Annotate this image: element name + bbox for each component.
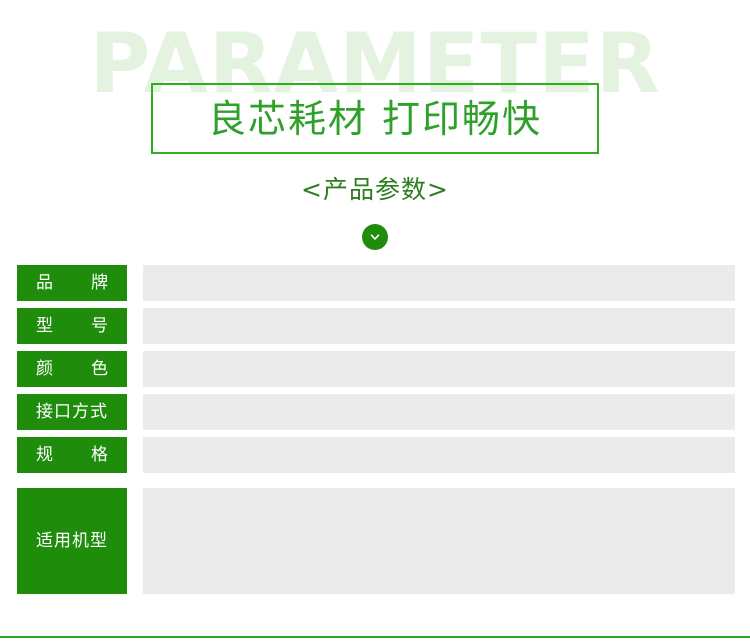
table-row: 适用机型	[0, 488, 750, 594]
spec-label-char: 品	[36, 275, 53, 292]
spec-label-text: 接口方式	[36, 404, 108, 421]
table-row: 规格	[0, 437, 750, 473]
spec-label-text: 适用机型	[36, 533, 108, 550]
spec-label-text: 型号	[36, 318, 108, 335]
spec-label-cell: 适用机型	[17, 488, 127, 594]
spec-label-char: 规	[36, 447, 53, 464]
spec-label-char: 色	[91, 361, 108, 378]
page-title: 良芯耗材 打印畅快	[208, 100, 542, 138]
table-row: 品牌	[0, 265, 750, 301]
spec-label-cell: 品牌	[17, 265, 127, 301]
spec-label-text: 规格	[36, 447, 108, 464]
section-subtitle: <产品参数>	[0, 175, 750, 205]
spec-label-char: 型	[36, 318, 53, 335]
spec-label-char: 格	[91, 447, 108, 464]
table-row: 型号	[0, 308, 750, 344]
spec-table: 品牌型号颜色接口方式规格适用机型	[0, 265, 750, 601]
spec-label-cell: 规格	[17, 437, 127, 473]
spec-label-char: 颜	[36, 361, 53, 378]
spec-value-cell[interactable]	[143, 265, 735, 301]
spec-label-text: 颜色	[36, 361, 108, 378]
spec-label-char: 牌	[91, 275, 108, 292]
spec-label-cell: 颜色	[17, 351, 127, 387]
spec-label-cell: 接口方式	[17, 394, 127, 430]
spec-value-cell[interactable]	[143, 351, 735, 387]
chevron-down-icon	[362, 224, 388, 250]
spec-label-text: 品牌	[36, 275, 108, 292]
spec-label-char: 号	[91, 318, 108, 335]
spec-label-cell: 型号	[17, 308, 127, 344]
hero-header: PARAMETER 良芯耗材 打印畅快 <产品参数>	[0, 0, 750, 258]
table-row: 颜色	[0, 351, 750, 387]
spec-value-cell[interactable]	[143, 394, 735, 430]
table-row: 接口方式	[0, 394, 750, 430]
spec-value-cell[interactable]	[143, 488, 735, 594]
spec-value-cell[interactable]	[143, 308, 735, 344]
footer-divider	[0, 636, 750, 638]
title-box: 良芯耗材 打印畅快	[151, 83, 599, 154]
spec-value-cell[interactable]	[143, 437, 735, 473]
parameter-page: PARAMETER 良芯耗材 打印畅快 <产品参数> 品牌型号颜色接口方式规格适…	[0, 0, 750, 641]
